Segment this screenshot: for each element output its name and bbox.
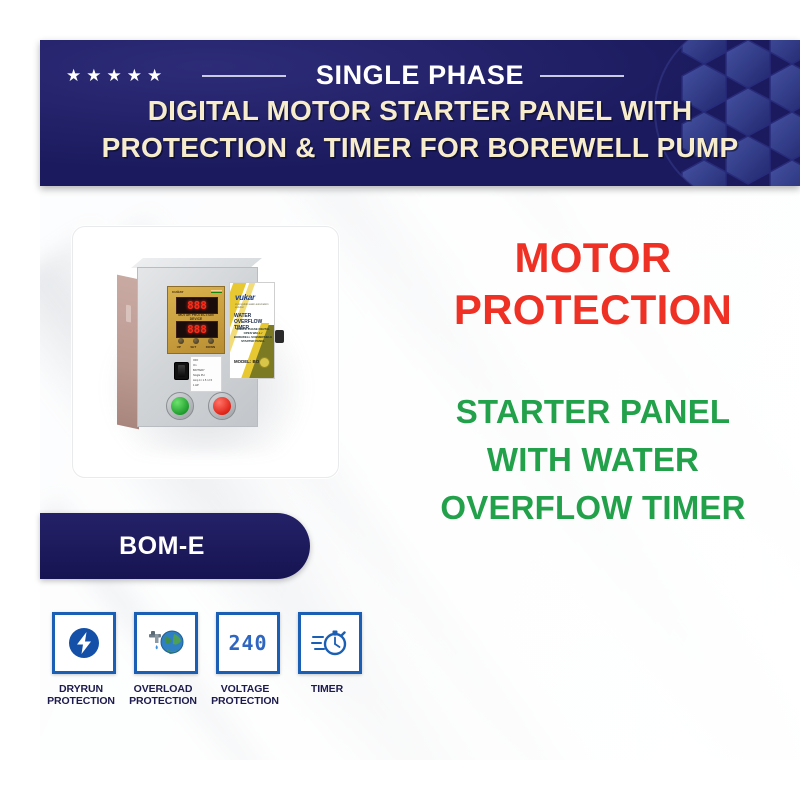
- red-indicator-lamp[interactable]: [208, 392, 236, 420]
- voltage-display-icon: 240: [228, 631, 267, 655]
- feature-dryrun-protection: DRYRUN PROTECTION: [52, 612, 114, 707]
- feature-label-line1: VOLTAGE: [209, 683, 281, 695]
- feature-list: DRYRUN PROTECTION OVERLOAD: [52, 612, 382, 707]
- feature-icon-box: [298, 612, 362, 674]
- spec-line-2: On: [193, 364, 196, 367]
- headline-green-line2: WITH WATER: [390, 436, 796, 484]
- meter-button-labels: UP SET DOWN: [172, 345, 220, 349]
- meter-set-button[interactable]: [193, 338, 199, 344]
- feature-label: DRYRUN PROTECTION: [45, 683, 117, 707]
- headline-red-line1: MOTOR: [390, 232, 796, 284]
- header-title: DIGITAL MOTOR STARTER PANEL WITH PROTECT…: [40, 92, 800, 166]
- meter-down-button[interactable]: [208, 338, 214, 344]
- sticker-desc-line1: SINGLE PHASE DIGITAL OPEN WELL /: [233, 327, 273, 335]
- header-eyebrow: SINGLE PHASE: [40, 54, 800, 96]
- sticker-desc-line2: BOREWELL SUBMERSIBLE STARTER PANEL: [233, 335, 273, 343]
- door-latch-icon[interactable]: [275, 330, 284, 343]
- digital-meter-module: vukar 888 MOTOR PROTECTION DEVICE 888: [167, 286, 225, 354]
- sticker-logo-icon: [259, 357, 270, 368]
- power-rocker-switch[interactable]: [174, 362, 189, 380]
- meter-display-top: 888: [176, 297, 218, 314]
- product-photo-card: vukar 888 MOTOR PROTECTION DEVICE 888: [72, 226, 339, 478]
- header-banner: ★ ★ ★ ★ ★ SINGLE PHASE DIGITAL MOTOR STA…: [40, 40, 800, 186]
- meter-down-label: DOWN: [206, 345, 216, 349]
- header-eyebrow-row: ★ ★ ★ ★ ★ SINGLE PHASE: [40, 54, 800, 96]
- stopwatch-icon: [311, 627, 349, 659]
- spec-line-1: OFF: [193, 359, 198, 362]
- divider-right: [540, 75, 624, 77]
- feature-icon-box: 240: [216, 612, 280, 674]
- meter-up-label: UP: [177, 345, 181, 349]
- spec-line-4: Single PH: [193, 374, 205, 377]
- feature-label: OVERLOAD PROTECTION: [127, 683, 199, 707]
- control-panel-enclosure: vukar 888 MOTOR PROTECTION DEVICE 888: [117, 267, 256, 427]
- sticker-brand: vukar: [235, 293, 255, 302]
- header-title-line1: DIGITAL MOTOR STARTER PANEL WITH: [40, 92, 800, 129]
- meter-brand-label: vukar: [172, 289, 184, 294]
- feature-label-line2: PROTECTION: [127, 695, 199, 707]
- red-lamp-lens: [213, 397, 231, 415]
- spec-line-3: BATTERY: [193, 369, 205, 372]
- headline-motor-protection: MOTOR PROTECTION: [390, 232, 796, 336]
- feature-overload-protection: OVERLOAD PROTECTION: [134, 612, 196, 707]
- model-badge-label: BOM-E: [40, 532, 310, 561]
- spec-sticker: OFF On BATTERY Single PH Amp 4 / 1.5 / 2…: [190, 356, 222, 392]
- feature-label-line1: TIMER: [291, 683, 363, 695]
- feature-label: VOLTAGE PROTECTION: [209, 683, 281, 707]
- headline-green-line1: STARTER PANEL: [390, 388, 796, 436]
- feature-label-line1: DRYRUN: [45, 683, 117, 695]
- meter-button-row[interactable]: [174, 338, 218, 344]
- header-title-line2: PROTECTION & TIMER FOR BOREWELL PUMP: [40, 129, 800, 166]
- tricolor-stripe: [211, 289, 222, 293]
- meter-caption: MOTOR PROTECTION DEVICE: [172, 313, 220, 321]
- headline-red-line2: PROTECTION: [390, 284, 796, 336]
- green-lamp-lens: [171, 397, 189, 415]
- tap-globe-icon: [147, 627, 185, 659]
- meter-display-bottom: 888: [176, 321, 218, 338]
- spec-line-6: 1 HP: [193, 384, 199, 387]
- feature-voltage-protection: 240 VOLTAGE PROTECTION: [216, 612, 278, 707]
- feature-icon-box: [52, 612, 116, 674]
- meter-set-label: SET: [190, 345, 196, 349]
- subheadline-starter-panel: STARTER PANEL WITH WATER OVERFLOW TIMER: [390, 388, 796, 532]
- lightning-bolt-icon: [67, 626, 101, 660]
- spec-line-5: Amp 4 / 1.5 / 2.5: [193, 379, 212, 382]
- feature-label-line2: PROTECTION: [45, 695, 117, 707]
- green-indicator-lamp[interactable]: [166, 392, 194, 420]
- enclosure-side: [117, 275, 139, 430]
- product-poster: ★ ★ ★ ★ ★ SINGLE PHASE DIGITAL MOTOR STA…: [0, 0, 800, 800]
- product-label-sticker: vukar A complete water automation soluti…: [229, 282, 275, 379]
- feature-label: TIMER: [291, 683, 363, 695]
- meter-display-top-value: 888: [187, 300, 207, 311]
- headline-green-line3: OVERFLOW TIMER: [390, 484, 796, 532]
- feature-label-line2: PROTECTION: [209, 695, 281, 707]
- model-badge: BOM-E: [40, 513, 310, 579]
- meter-display-bottom-value: 888: [187, 324, 207, 335]
- sticker-tagline: A complete water automation solution: [235, 303, 274, 309]
- feature-label-line1: OVERLOAD: [127, 683, 199, 695]
- feature-timer: TIMER: [298, 612, 360, 707]
- enclosure-front-door: vukar 888 MOTOR PROTECTION DEVICE 888: [137, 267, 258, 427]
- feature-icon-box: [134, 612, 198, 674]
- meter-up-button[interactable]: [178, 338, 184, 344]
